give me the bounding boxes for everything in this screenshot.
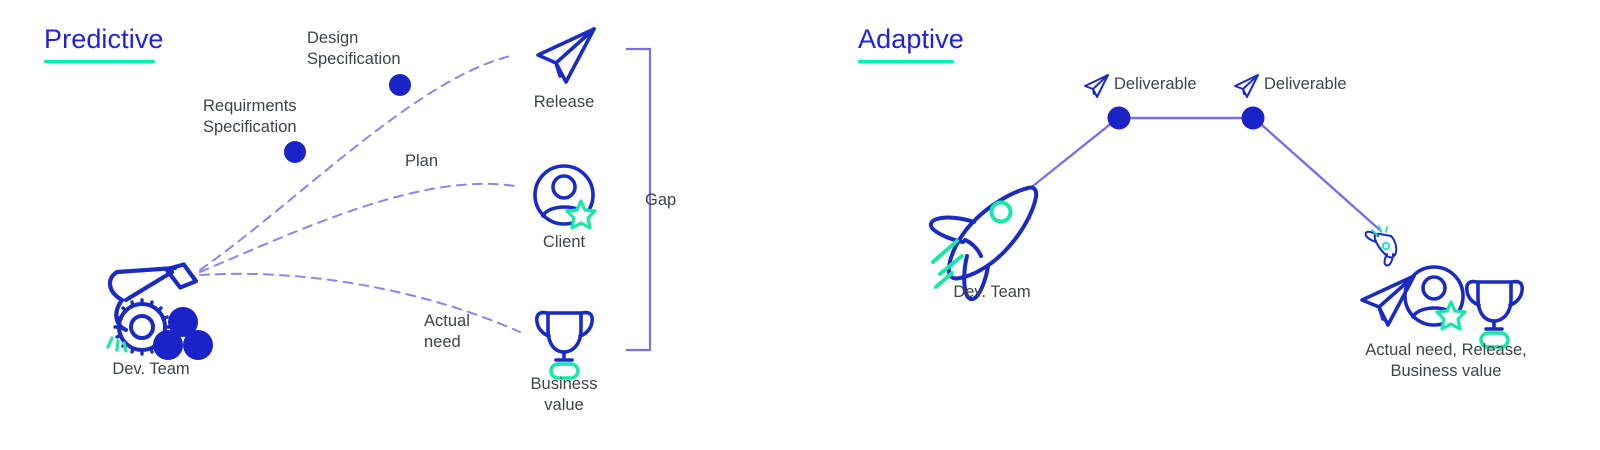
label-actual-need: Actual need: [424, 311, 514, 353]
label-deliverable-2: Deliverable: [1264, 74, 1394, 95]
predictive-title-underline: [44, 60, 155, 63]
label-dev-team-adaptive: Dev. Team: [897, 282, 1087, 303]
adaptive-segment-fall: [1254, 118, 1381, 231]
paper-plane-small-icon: [1085, 75, 1108, 97]
trophy-icon-endpoint: [1467, 282, 1522, 329]
cannonball-right: [183, 330, 213, 360]
vector-layer: [0, 0, 1600, 450]
label-design-specification: Design Specification: [307, 28, 497, 70]
label-plan: Plan: [405, 151, 485, 172]
dot-deliverable-2: [1242, 107, 1265, 130]
paper-plane-icon: [538, 29, 594, 82]
label-requirements-specification: Requirments Specification: [203, 96, 393, 138]
cannonball-left: [153, 330, 183, 360]
diagram-canvas: Predictive Requirments Specification Des…: [0, 0, 1600, 450]
dot-requirements-specification: [284, 141, 306, 163]
rocket-small-icon: [1366, 232, 1397, 266]
rocket-window: [992, 203, 1011, 222]
label-deliverable-1: Deliverable: [1114, 74, 1244, 95]
label-adaptive-endpoint: Actual need, Release, Business value: [1316, 340, 1576, 382]
dot-deliverable-1: [1108, 107, 1131, 130]
adaptive-segment-rise: [1033, 118, 1118, 186]
trophy-icon: [537, 313, 592, 360]
dot-design-specification: [389, 74, 411, 96]
predictive-section-header: Predictive: [44, 26, 164, 63]
adaptive-path: [1033, 118, 1381, 231]
predictive-title: Predictive: [44, 26, 164, 53]
label-business-value: Business value: [494, 374, 634, 416]
rocket-small-window: [1383, 243, 1389, 249]
trajectory-to-client: [200, 184, 515, 272]
adaptive-title-underline: [858, 60, 954, 63]
adaptive-section-header: Adaptive: [858, 26, 964, 63]
label-client: Client: [494, 232, 634, 253]
label-release: Release: [494, 92, 634, 113]
label-gap: Gap: [645, 190, 725, 211]
adaptive-title: Adaptive: [858, 26, 964, 53]
label-dev-team-predictive: Dev. Team: [56, 359, 246, 380]
